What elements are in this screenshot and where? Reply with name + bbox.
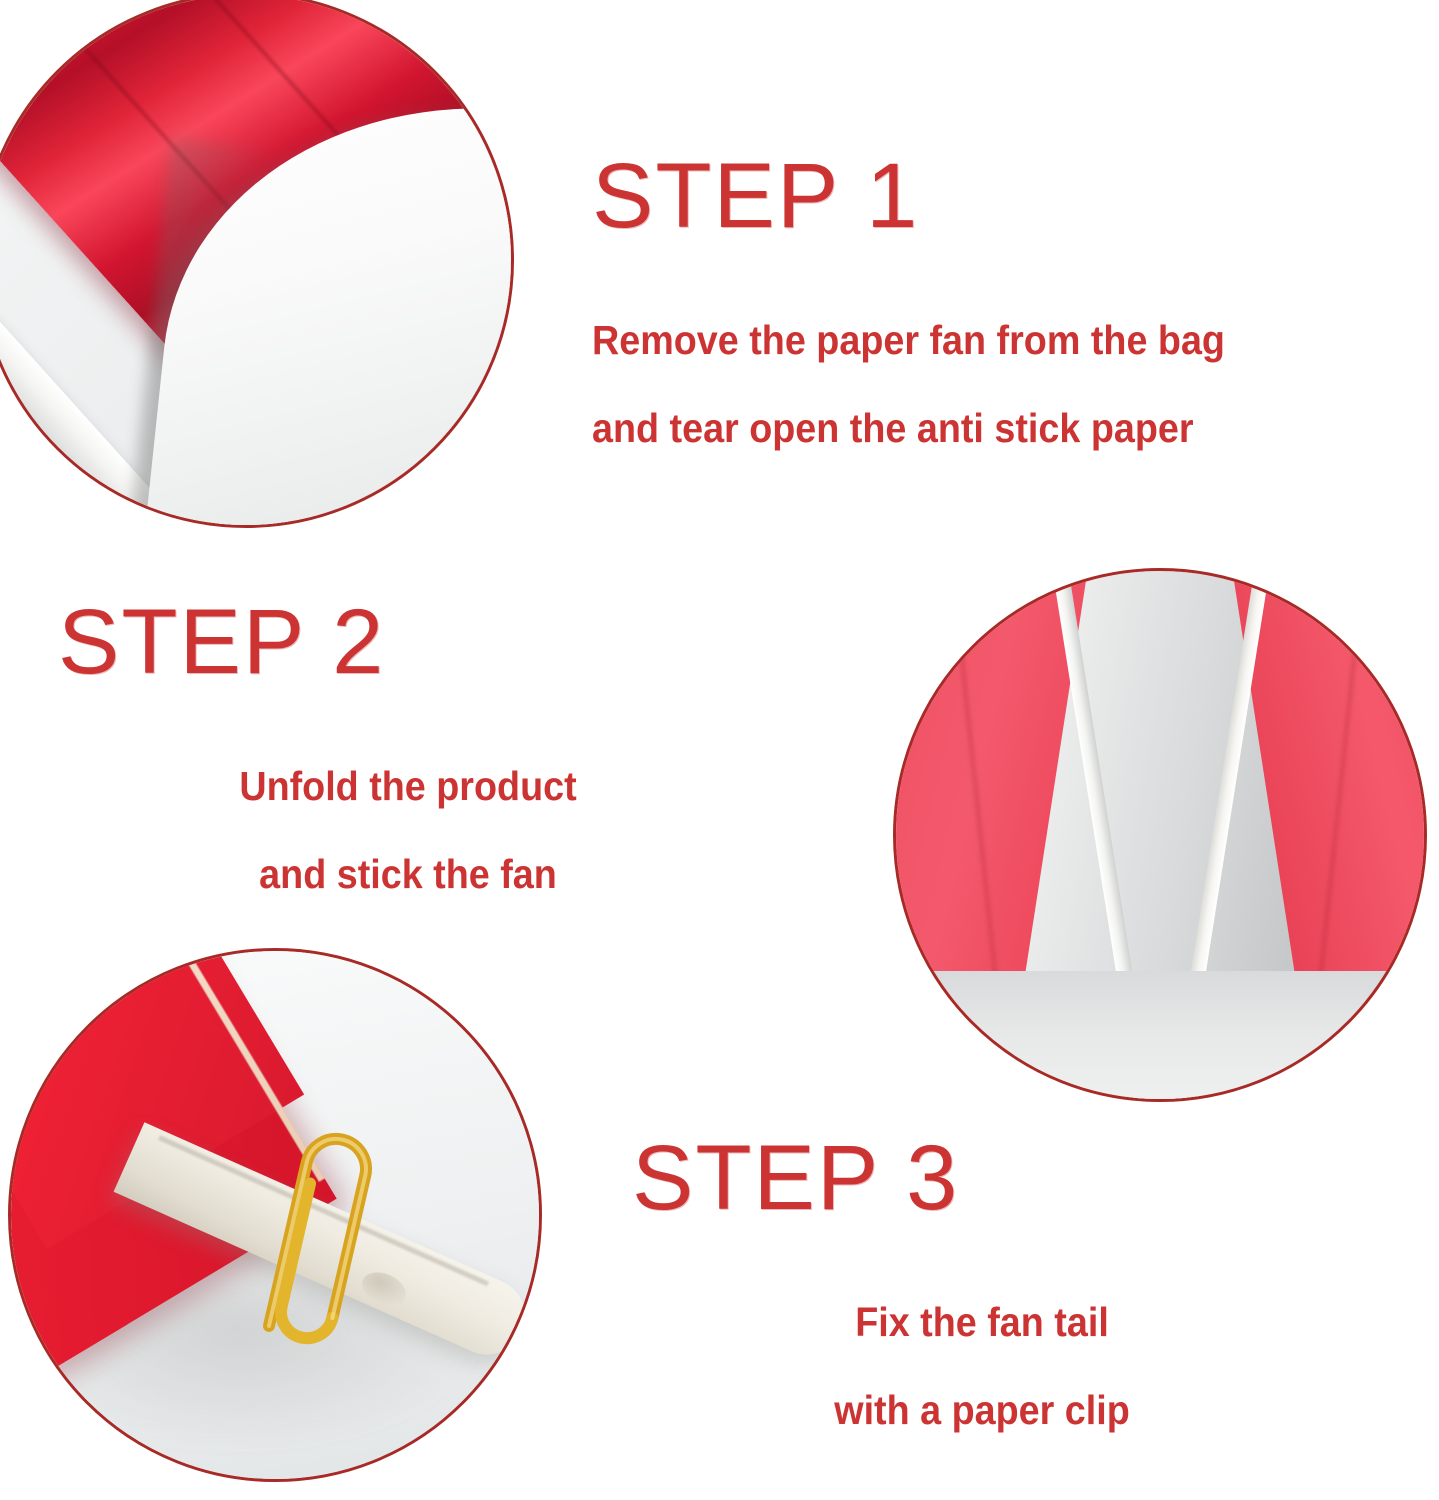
step-3-text-block: STEP 3 Fix the fan tail with a paper cli…	[632, 1132, 1332, 1431]
step-3-heading: STEP 3	[632, 1132, 1332, 1224]
step-3-description-line-1: Fix the fan tail	[660, 1302, 1304, 1343]
step-2-photo-unfolded-fan	[893, 568, 1427, 1102]
step-1-photo-folded-fan	[0, 0, 514, 528]
step-3-description-line-2: with a paper clip	[660, 1390, 1304, 1431]
step-2-description-line-2: and stick the fan	[86, 854, 730, 895]
step-2-photo-content	[894, 569, 1426, 1101]
step-1-text-block: STEP 1 Remove the paper fan from the bag…	[592, 150, 1280, 449]
step-1-description-line-1: Remove the paper fan from the bag	[592, 320, 1225, 361]
instruction-infographic: STEP 1 Remove the paper fan from the bag…	[0, 0, 1439, 1500]
step-3-photo-content	[9, 949, 541, 1481]
step-1-photo-content	[0, 0, 513, 527]
step-2-description-line-1: Unfold the product	[86, 766, 730, 807]
step-1-heading: STEP 1	[592, 150, 1280, 242]
step-1-description-line-2: and tear open the anti stick paper	[592, 408, 1225, 449]
step-2-text-block: STEP 2 Unfold the product and stick the …	[58, 596, 758, 895]
table-surface	[894, 971, 1426, 1101]
step-2-heading: STEP 2	[58, 596, 758, 688]
step-3-photo-paper-clip	[8, 948, 542, 1482]
